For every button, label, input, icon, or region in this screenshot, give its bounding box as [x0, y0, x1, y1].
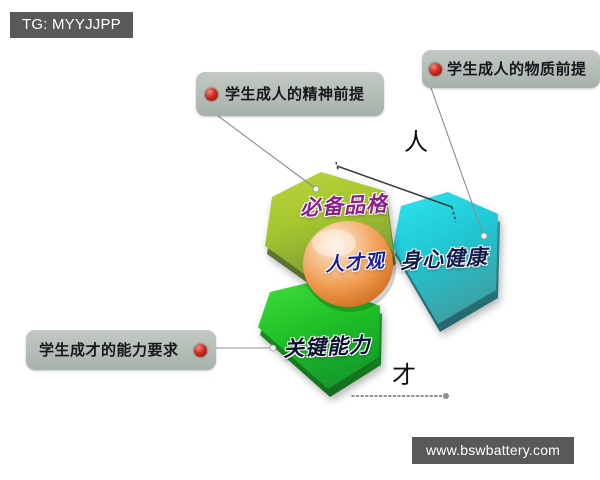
petal-physical-mental-health[interactable] [393, 192, 500, 332]
bullet-icon [205, 88, 218, 101]
bullet-icon [429, 63, 442, 76]
callout-label: 学生成才的能力要求 [39, 343, 179, 358]
leader-line-ability [213, 345, 276, 351]
callout-label: 学生成人的物质前提 [447, 62, 587, 77]
underline-cai [352, 393, 449, 399]
diagram-canvas: 必备品格 身心健康 关键能力 人才观 人 才 学生成人的精神前提 学生成人的物质… [0, 0, 600, 480]
leader-line-spirit [206, 106, 319, 192]
bullet-icon [194, 344, 207, 357]
telegram-watermark: TG: MYYJJPP [10, 12, 133, 38]
callout-spirit-premise[interactable]: 学生成人的精神前提 [196, 72, 384, 116]
callout-material-premise[interactable]: 学生成人的物质前提 [422, 50, 600, 88]
callout-label: 学生成人的精神前提 [225, 87, 365, 102]
site-watermark: www.bswbattery.com [412, 437, 574, 464]
callout-ability-requirement[interactable]: 学生成才的能力要求 [26, 330, 216, 370]
